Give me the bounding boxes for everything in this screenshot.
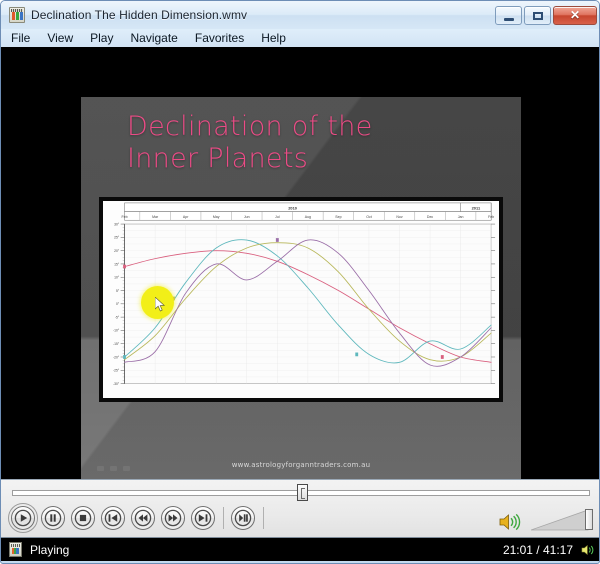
skip-forward-icon	[192, 507, 214, 529]
svg-text:Jan: Jan	[458, 215, 464, 219]
volume-handle[interactable]	[585, 509, 593, 530]
svg-text:25°: 25°	[114, 236, 120, 240]
status-right-group: 21:01 / 41:17	[503, 543, 595, 557]
menu-item-play[interactable]: Play	[90, 31, 113, 45]
minimize-icon	[504, 18, 514, 21]
transport-buttons	[11, 506, 271, 530]
playback-controls	[1, 479, 600, 537]
svg-text:-20°: -20°	[113, 355, 120, 359]
maximize-icon	[533, 12, 543, 20]
status-text: Playing	[30, 543, 69, 557]
svg-text:Feb: Feb	[488, 215, 494, 219]
window-title: Declination The Hidden Dimension.wmv	[31, 8, 247, 22]
svg-text:Aug: Aug	[305, 215, 311, 219]
svg-text:30°: 30°	[114, 222, 120, 226]
svg-text:20°: 20°	[114, 249, 120, 253]
svg-text:-30°: -30°	[113, 382, 120, 386]
svg-text:Jun: Jun	[244, 215, 250, 219]
rewind-icon	[132, 507, 154, 529]
volume-ramp-icon	[531, 509, 589, 531]
menu-item-navigate[interactable]: Navigate	[130, 31, 177, 45]
step-button[interactable]	[231, 506, 255, 530]
rewind-button[interactable]	[131, 506, 155, 530]
transport-separator	[223, 507, 224, 529]
stop-button[interactable]	[71, 506, 95, 530]
window-controls: ✕	[495, 6, 597, 25]
svg-text:Apr: Apr	[183, 215, 189, 219]
svg-text:10°: 10°	[114, 276, 120, 280]
title-bar: Declination The Hidden Dimension.wmv ✕	[1, 1, 600, 29]
skip-back-icon	[102, 507, 124, 529]
fast-forward-button[interactable]	[161, 506, 185, 530]
svg-text:2010: 2010	[288, 205, 297, 210]
svg-text:-15°: -15°	[113, 342, 120, 346]
menu-item-favorites[interactable]: Favorites	[195, 31, 244, 45]
svg-text:-10°: -10°	[113, 329, 120, 333]
pause-button[interactable]	[41, 506, 65, 530]
transport-separator-2	[263, 507, 264, 529]
video-viewport[interactable]: Declination of the Inner Planets 2010201…	[1, 47, 600, 479]
svg-text:May: May	[213, 215, 220, 219]
menu-item-help[interactable]: Help	[261, 31, 286, 45]
slide-title: Declination of the Inner Planets	[127, 111, 373, 175]
svg-text:Oct: Oct	[366, 215, 372, 219]
maximize-button[interactable]	[524, 6, 551, 25]
play-icon	[12, 507, 34, 529]
svg-text:2011: 2011	[472, 205, 481, 210]
media-player-window: Declination The Hidden Dimension.wmv ✕ F…	[0, 0, 600, 564]
time-display: 21:01 / 41:17	[503, 543, 573, 557]
menu-bar: File View Play Navigate Favorites Help	[1, 29, 600, 47]
step-frame-icon	[232, 507, 254, 529]
volume-slider[interactable]	[531, 508, 593, 532]
previous-button[interactable]	[101, 506, 125, 530]
svg-text:Dec: Dec	[427, 215, 434, 219]
volume-area	[499, 506, 593, 532]
status-media-icon	[9, 542, 22, 557]
menu-item-view[interactable]: View	[47, 31, 73, 45]
svg-text:15°: 15°	[114, 262, 120, 266]
presentation-slide: Declination of the Inner Planets 2010201…	[81, 97, 521, 479]
svg-text:Sep: Sep	[335, 215, 341, 219]
svg-text:Jul: Jul	[275, 215, 280, 219]
pause-icon	[42, 507, 64, 529]
play-button[interactable]	[11, 506, 35, 530]
stop-icon	[72, 507, 94, 529]
svg-text:-25°: -25°	[113, 369, 120, 373]
app-icon	[9, 7, 25, 23]
fast-forward-icon	[162, 507, 184, 529]
svg-text:Feb: Feb	[122, 215, 128, 219]
minimize-button[interactable]	[495, 6, 522, 25]
slide-footer-url: www.astrologyforganntraders.com.au	[81, 461, 521, 469]
speaker-small-icon[interactable]	[581, 543, 595, 557]
menu-item-file[interactable]: File	[11, 31, 30, 45]
svg-text:-5°: -5°	[115, 315, 120, 319]
speaker-icon[interactable]	[499, 512, 521, 532]
close-button[interactable]: ✕	[553, 6, 597, 25]
seek-thumb[interactable]	[297, 484, 308, 501]
svg-text:Mar: Mar	[152, 215, 159, 219]
next-button[interactable]	[191, 506, 215, 530]
svg-text:Nov: Nov	[396, 215, 403, 219]
close-icon: ✕	[554, 7, 596, 24]
status-bar: Playing 21:01 / 41:17	[1, 537, 600, 561]
